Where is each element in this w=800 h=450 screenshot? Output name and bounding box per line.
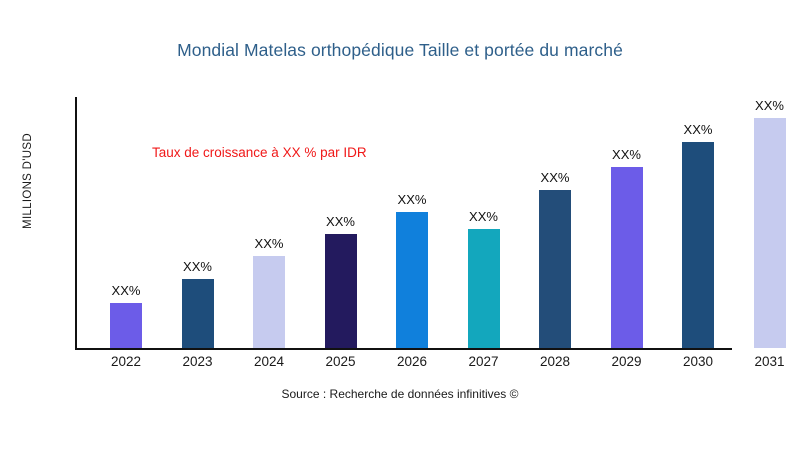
bar-value-label-2023: XX%: [166, 259, 230, 274]
bar-2027[interactable]: [468, 229, 500, 348]
bar-2031[interactable]: [754, 118, 786, 348]
bar-value-label-2027: XX%: [452, 209, 516, 224]
x-tick-label-2023: 2023: [166, 354, 230, 369]
bar-2026[interactable]: [396, 212, 428, 348]
x-tick-label-2031: 2031: [738, 354, 800, 369]
x-tick-label-2025: 2025: [309, 354, 373, 369]
bar-2030[interactable]: [682, 142, 714, 348]
bar-2023[interactable]: [182, 279, 214, 348]
bar-value-label-2030: XX%: [666, 122, 730, 137]
plot-area: XX%2022XX%2023XX%2024XX%2025XX%2026XX%20…: [0, 0, 800, 450]
bar-value-label-2028: XX%: [523, 170, 587, 185]
chart-container: Mondial Matelas orthopédique Taille et p…: [0, 0, 800, 450]
bar-value-label-2029: XX%: [595, 147, 659, 162]
bar-2024[interactable]: [253, 256, 285, 348]
bar-value-label-2022: XX%: [94, 283, 158, 298]
bar-2025[interactable]: [325, 234, 357, 348]
bar-value-label-2031: XX%: [738, 98, 800, 113]
source-note: Source : Recherche de données infinitive…: [0, 387, 800, 401]
bar-2028[interactable]: [539, 190, 571, 348]
x-tick-label-2030: 2030: [666, 354, 730, 369]
growth-rate-annotation: Taux de croissance à XX % par IDR: [152, 145, 367, 160]
bar-2022[interactable]: [110, 303, 142, 348]
x-tick-label-2027: 2027: [452, 354, 516, 369]
x-tick-label-2029: 2029: [595, 354, 659, 369]
x-tick-label-2022: 2022: [94, 354, 158, 369]
x-tick-label-2026: 2026: [380, 354, 444, 369]
bar-value-label-2025: XX%: [309, 214, 373, 229]
x-tick-label-2028: 2028: [523, 354, 587, 369]
bar-value-label-2024: XX%: [237, 236, 301, 251]
bar-2029[interactable]: [611, 167, 643, 348]
bar-value-label-2026: XX%: [380, 192, 444, 207]
x-tick-label-2024: 2024: [237, 354, 301, 369]
